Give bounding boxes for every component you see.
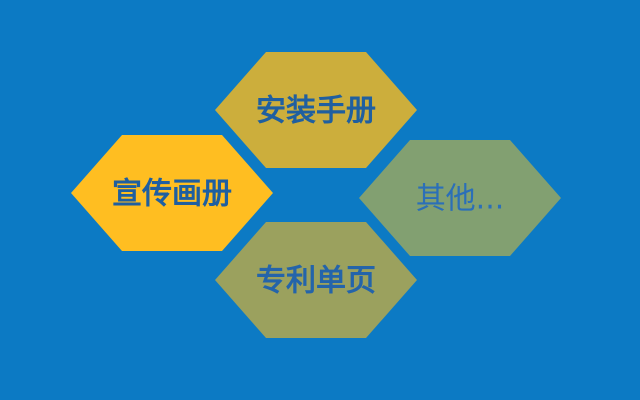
hexagon-label-qita: 其他... [416, 182, 505, 217]
hexagon-label-zhuanlidanye: 专利单页 [256, 264, 376, 299]
hexagon-label-anzhuangshouce: 安装手册 [256, 94, 376, 129]
hexagon-label-xuanchuanhuace: 宣传画册 [112, 177, 232, 212]
hexagon-cluster-svg: 宣传画册 安装手册 专利单页 其他... [0, 0, 640, 400]
hexagon-diagram-canvas: 宣传画册 安装手册 专利单页 其他... [0, 0, 640, 400]
